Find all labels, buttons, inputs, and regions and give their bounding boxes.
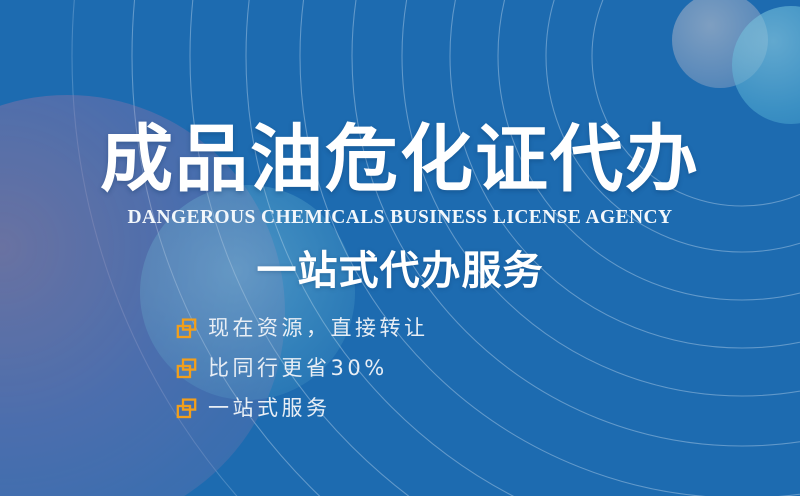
english-subtitle: DANGEROUS CHEMICALS BUSINESS LICENSE AGE… (0, 206, 800, 230)
main-title: 成品油危化证代办 (0, 118, 800, 202)
banner-content: 成品油危化证代办 DANGEROUS CHEMICALS BUSINESS LI… (0, 0, 800, 496)
promo-banner: 成品油危化证代办 DANGEROUS CHEMICALS BUSINESS LI… (0, 0, 800, 496)
feature-list: 现在资源，直接转让 比同行更省30% 一站式服务 (176, 316, 429, 420)
overlapping-squares-icon (176, 318, 197, 339)
list-item-label: 一站式服务 (208, 396, 331, 420)
list-item-label: 比同行更省30% (208, 356, 388, 380)
list-item: 一站式服务 (176, 396, 429, 420)
overlapping-squares-icon (176, 398, 197, 419)
sub-headline: 一站式代办服务 (0, 246, 800, 296)
list-item: 比同行更省30% (176, 356, 429, 380)
list-item: 现在资源，直接转让 (176, 316, 429, 340)
overlapping-squares-icon (176, 358, 197, 379)
list-item-label: 现在资源，直接转让 (208, 316, 429, 340)
